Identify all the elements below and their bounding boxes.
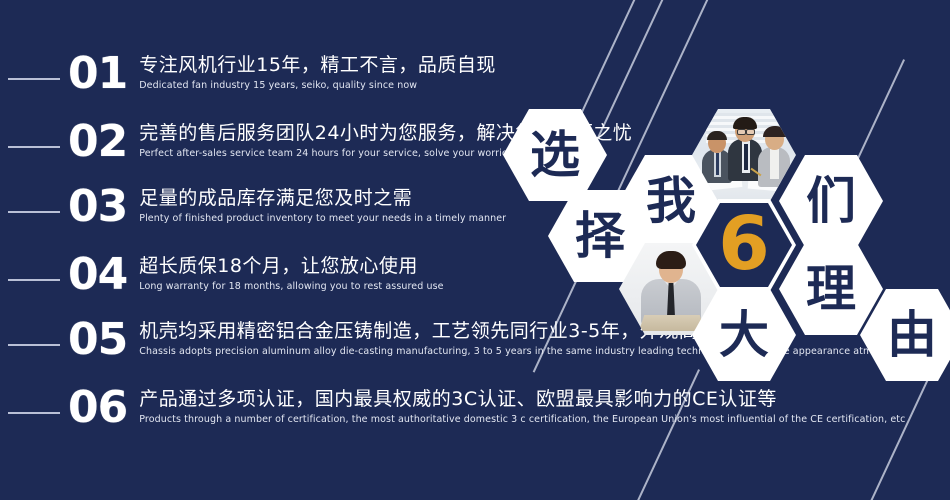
hexagon-cluster: 选 择 我 — [0, 0, 950, 500]
hex-label: 理 — [806, 264, 856, 314]
hex-label: 我 — [646, 176, 696, 226]
hex-cell-xuan: 选 — [503, 109, 607, 201]
hex-label: 6 — [718, 207, 770, 281]
hex-label: 大 — [719, 310, 769, 360]
banner-root: 01 专注风机行业15年，精工不言，品质自现 Dedicated fan ind… — [0, 0, 950, 500]
hex-label: 选 — [530, 130, 580, 180]
hex-label: 由 — [887, 310, 937, 360]
hex-label: 们 — [806, 176, 856, 226]
hex-label: 择 — [575, 211, 625, 261]
hex-cell-six: 6 — [692, 199, 796, 291]
